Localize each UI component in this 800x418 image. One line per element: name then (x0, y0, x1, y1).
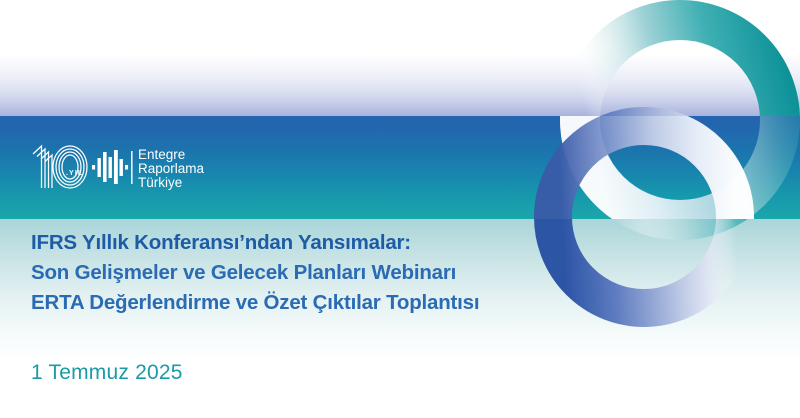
title-line-3: ERTA Değerlendirme ve Özet Çıktılar Topl… (31, 288, 651, 318)
logo-divider (131, 151, 133, 184)
event-title-block: IFRS Yıllık Konferansı’ndan Yansımalar: … (31, 228, 651, 318)
equalizer-bars-icon (92, 150, 128, 184)
anniversary-suffix-label: .YIL (66, 170, 83, 177)
brand-line-3: Türkiye (138, 175, 182, 190)
erta-logo: .YIL Entegre Raporlama Türkiye (30, 141, 230, 193)
logo-artwork: .YIL Entegre Raporlama Türkiye (30, 141, 230, 193)
brand-line-1: Entegre (138, 147, 185, 162)
title-line-1: IFRS Yıllık Konferansı’ndan Yansımalar: (31, 228, 651, 258)
title-line-2: Son Gelişmeler ve Gelecek Planları Webin… (31, 258, 651, 288)
top-gradient-wash (0, 0, 800, 116)
brand-line-2: Raporlama (138, 161, 205, 176)
anniversary-10-icon (33, 146, 87, 188)
event-date: 1 Temmuz 2025 (31, 361, 183, 385)
conference-banner: .YIL Entegre Raporlama Türkiye IFRS Yıll… (0, 0, 800, 418)
